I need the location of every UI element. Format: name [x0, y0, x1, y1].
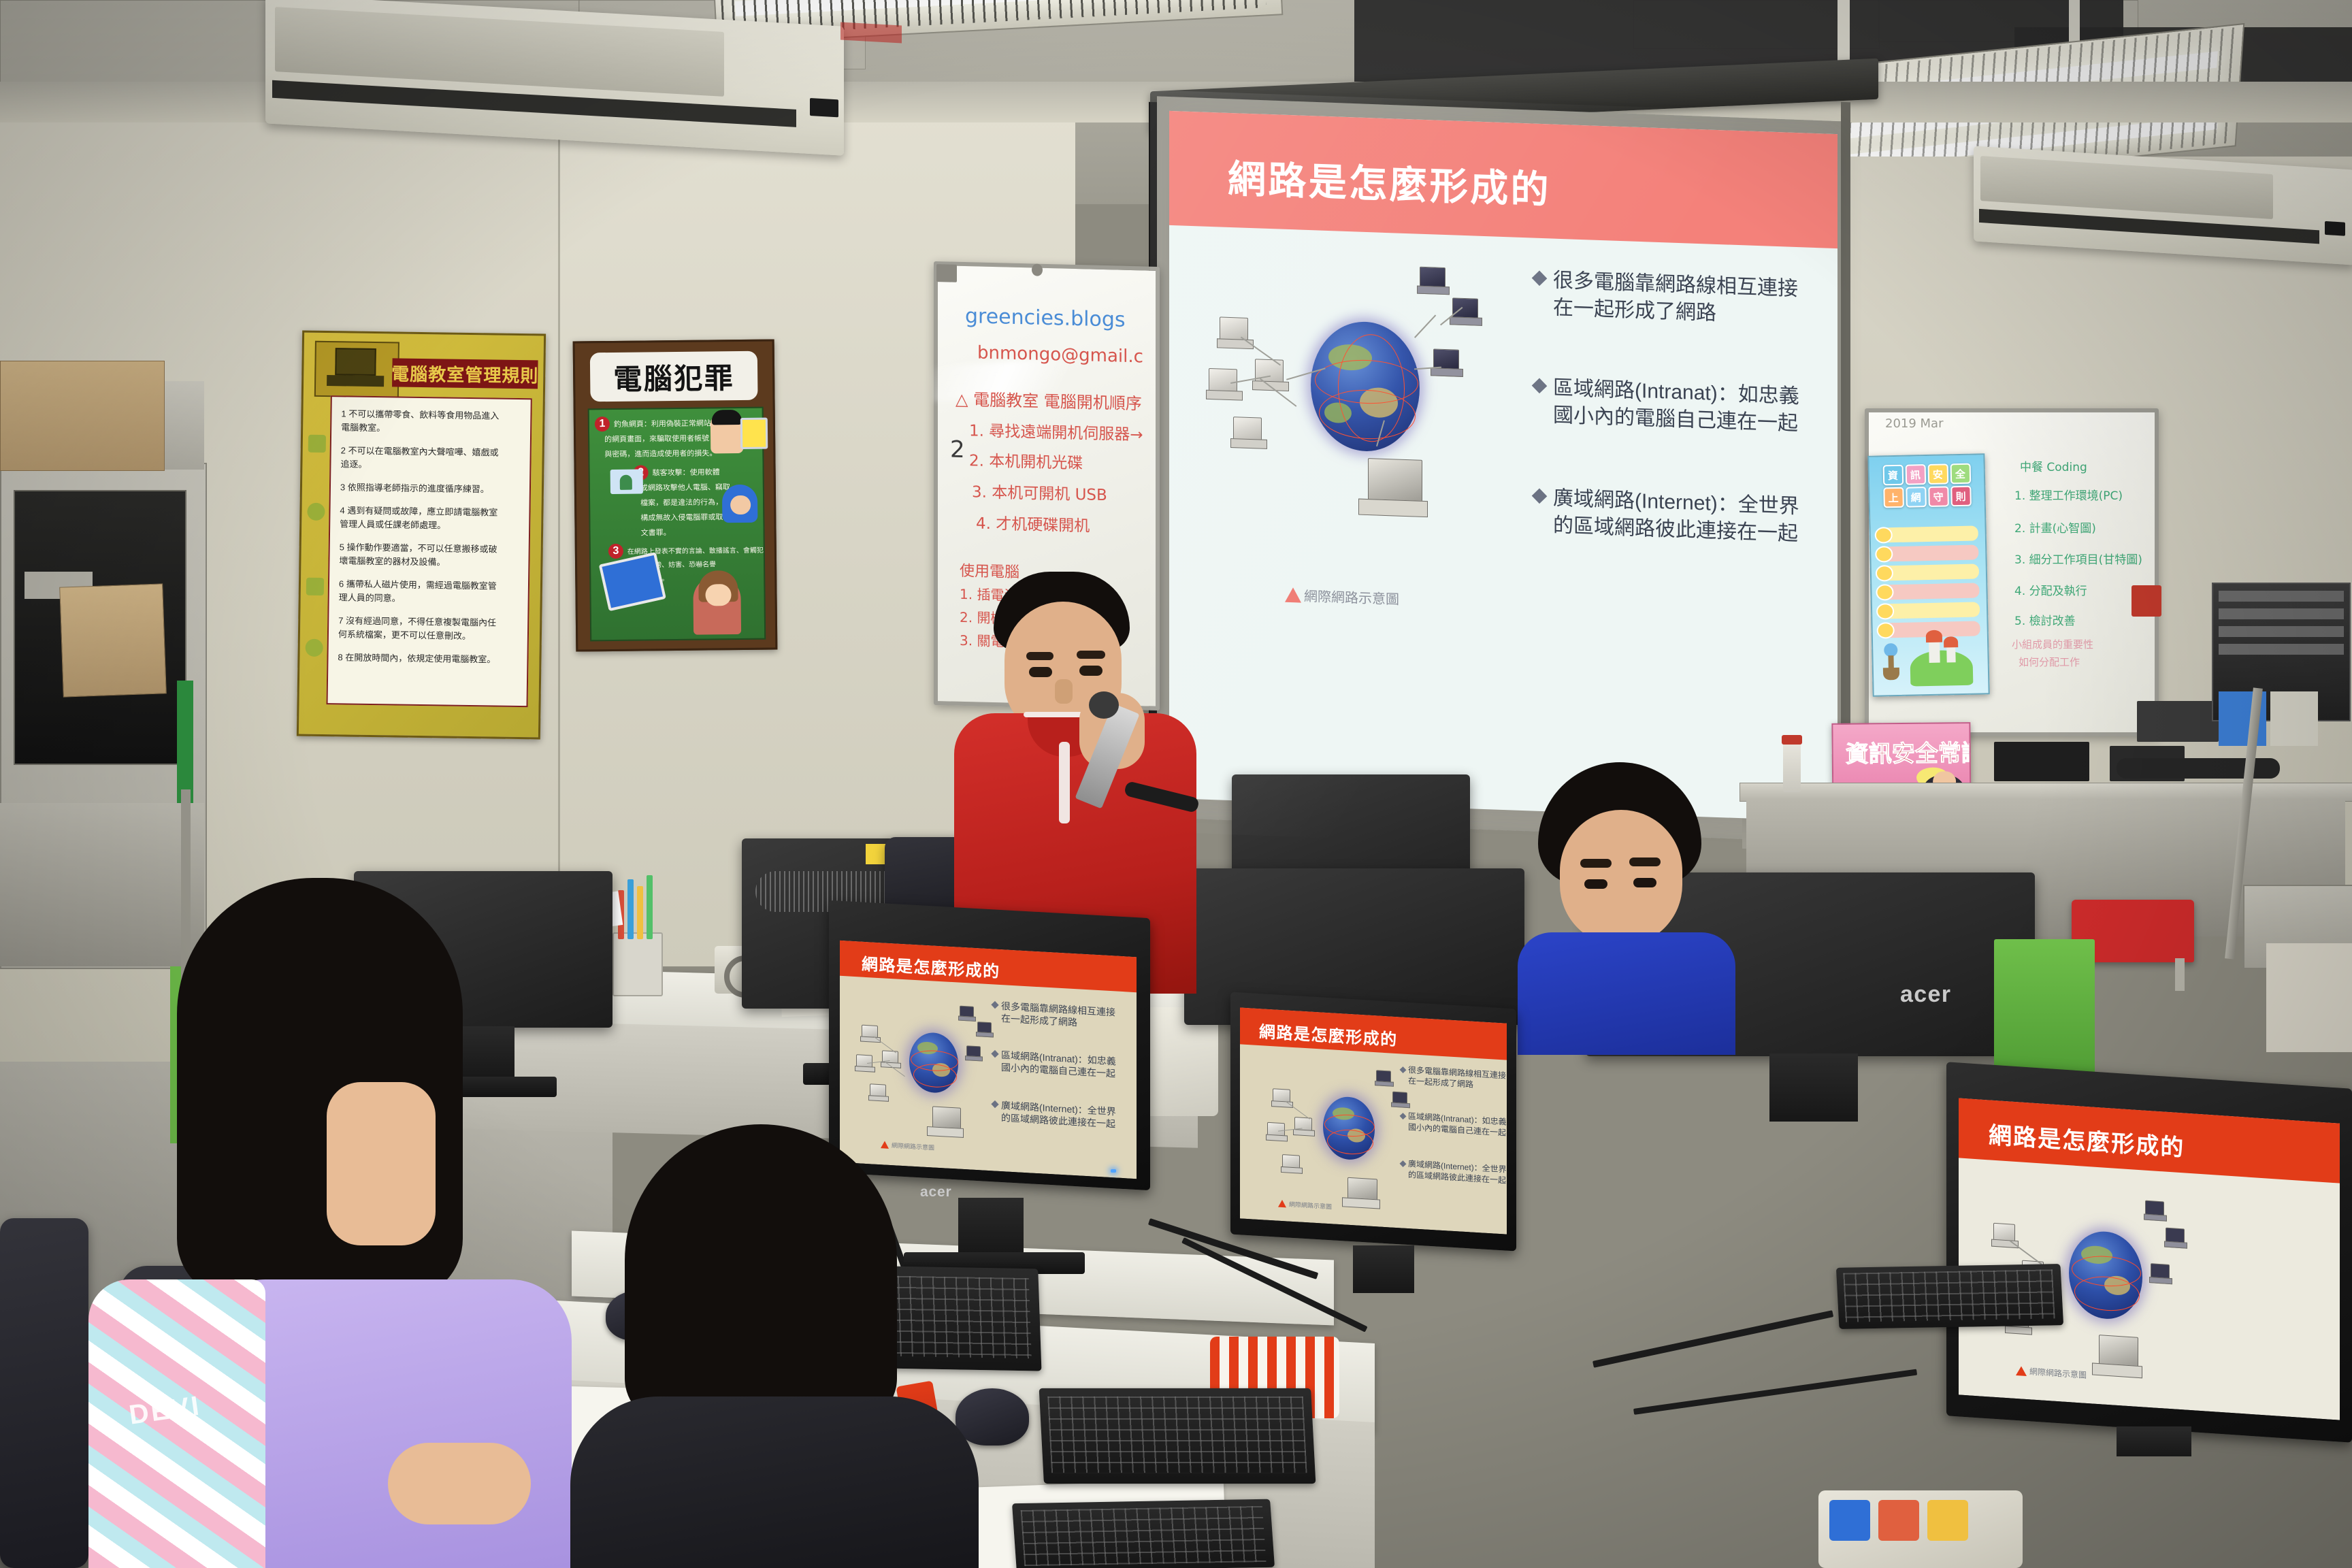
- rule-line: 壞電腦教室的器材及設備。: [339, 553, 445, 568]
- rule-line: 3 依照指導老師指示的進度循序練習。: [340, 480, 489, 495]
- student-dark-jacket: [570, 1396, 979, 1568]
- cardboard-box: [59, 583, 167, 697]
- equipment-box: [1994, 742, 2089, 781]
- whiteboard-line: 2. 本机開机光碟: [969, 447, 1083, 473]
- poster-internet-safety: 資 訊 安 全 上 網 守 則: [1867, 453, 1989, 697]
- crime-line: 檔案，都是違法的行為，會: [640, 496, 730, 508]
- classroom-photo: 網路是怎麼形成的: [0, 0, 2352, 1568]
- equipment-shelf: [1739, 783, 2352, 802]
- keyboard-right: [1836, 1264, 2063, 1329]
- whiteboard-line: 4. 才机硬碟開机: [976, 510, 1090, 536]
- poster-security-title: 資訊安全常識: [1846, 734, 1972, 769]
- monitor-slide-bullet: 區域網路(Intranat)：如忠義 國小內的電腦自己連在一起: [1001, 1049, 1116, 1080]
- whiteboard-line: 3. 本机可開机 USB: [972, 478, 1107, 505]
- whiteboard-line: 1. 整理工作環境(PC): [2014, 486, 2123, 503]
- safety-title-char: 全: [1950, 463, 1971, 485]
- student-dark-hair: [625, 1124, 897, 1424]
- microphone-head: [1089, 691, 1119, 719]
- chair-far-left: [0, 1218, 88, 1568]
- crime-line: 構成無故入侵電腦罪或取得: [640, 511, 730, 523]
- whiteboard-line: 5. 檢討改善: [2014, 611, 2076, 628]
- crime-line: 釣魚網頁：利用偽裝正常網站: [614, 417, 711, 429]
- crime-line: 文書罪。: [640, 527, 670, 538]
- monitor-slide-bullet: 區域網路(Intranat)：如忠義 國小內的電腦自己連在一起: [1408, 1111, 1507, 1139]
- paper-stack: [2266, 943, 2352, 1052]
- pencil-case-right: [1818, 1490, 2023, 1568]
- rule-line: 管理人員或任課老師處理。: [340, 517, 446, 531]
- bottle: [1783, 742, 1801, 792]
- monitor-slide-far-right: 網路是怎麼形成的: [1959, 1098, 2340, 1420]
- diamond-bullet-icon: [1400, 1113, 1407, 1120]
- safety-title-char: 訊: [1905, 464, 1926, 485]
- rule-line: 理人員的同意。: [339, 590, 401, 604]
- safety-title-char: 守: [1928, 486, 1949, 507]
- diamond-bullet-icon: [991, 1050, 998, 1058]
- poster-rules-title: 電腦教室管理規則: [392, 358, 538, 389]
- crime-line: 駭客攻擊：使用軟體: [653, 466, 720, 478]
- whiteboard-margin-number: 2: [950, 436, 965, 464]
- slide-bullet-2: 區域網路(Intranat)：如忠義 國小內的電腦自己連在一起: [1534, 374, 1813, 438]
- slide-bullet-3-text: 廣域網路(Internet)：全世界 的區域網路彼此連接在一起: [1553, 485, 1799, 548]
- whiteboard-line: 1. 尋找遠端開机伺服器→: [969, 417, 1143, 444]
- person-student-front-right: [563, 1124, 999, 1568]
- whiteboard-line: 4. 分配及執行: [2014, 581, 2087, 598]
- safety-title-char: 則: [1950, 486, 1972, 507]
- slide-bullet-2-text: 區域網路(Intranat)：如忠義 國小內的電腦自己連在一起: [1553, 375, 1799, 438]
- monitor-center-rear: 網路是怎麼形成的: [1230, 1000, 1516, 1259]
- triangle-icon: [1285, 587, 1301, 602]
- rule-line: 8 在開放時間內，依規定使用電腦教室。: [338, 650, 495, 665]
- slide-bullet-1-text: 很多電腦靠網路線相互連接 在一起形成了網路: [1553, 267, 1798, 330]
- cable-coil: [2117, 758, 2280, 779]
- safety-title-char: 安: [1927, 463, 1948, 485]
- whiteboard-line: 中餐 Coding: [2020, 457, 2087, 474]
- slide-title: 網路是怎麼形成的: [1228, 148, 1551, 215]
- diamond-bullet-icon: [991, 1001, 998, 1009]
- globe-icon: [1311, 320, 1420, 453]
- diamond-bullet-icon: [991, 1100, 998, 1108]
- safety-title-char: 資: [1882, 465, 1904, 486]
- computer-icon: [314, 341, 399, 398]
- rule-line: 6 攜帶私人磁片使用，需經過電腦教室管: [339, 576, 497, 591]
- rule-line: 4 遇到有疑問或故障，應立即請電腦教室: [340, 503, 497, 518]
- student-girl-hand: [388, 1443, 531, 1524]
- safety-title-char: 網: [1906, 487, 1927, 508]
- poster-safety-title: 資 訊 安 全 上 網 守 則: [1878, 463, 1976, 508]
- monitor-slide-right: 網路是怎麼形成的: [1240, 1007, 1507, 1234]
- diamond-bullet-icon: [1532, 489, 1548, 504]
- diamond-bullet-icon: [1400, 1066, 1407, 1073]
- triangle-icon: [1278, 1200, 1286, 1208]
- diamond-bullet-icon: [1532, 271, 1548, 287]
- crime-line: 的網頁畫面，來騙取使用者帳號: [604, 432, 709, 444]
- slide-bullet-1: 很多電腦靠網路線相互連接 在一起形成了網路: [1534, 267, 1813, 331]
- pen-cup: [612, 932, 663, 996]
- crime-number: 3: [608, 544, 623, 559]
- rule-line: 5 操作動作要適當，不可以任意搬移或破: [340, 540, 497, 555]
- monitor-slide-bullet: 廣域網路(Internet)：全世界 的區域網路彼此連接在一起: [1408, 1159, 1507, 1186]
- whiteboard-line: 小組成員的重要性: [2012, 637, 2093, 651]
- diamond-bullet-icon: [1532, 378, 1548, 394]
- poster-crime-title: 電腦犯罪: [590, 351, 758, 402]
- student-boy-jacket: [1518, 932, 1735, 1055]
- whiteboard-line: 2. 計畫(心智圖): [2014, 519, 2096, 536]
- rule-line: 7 沒有經過同意，不得任意複製電腦內任: [338, 613, 496, 628]
- whiteboard-line: 如何分配工作: [2019, 655, 2080, 669]
- person-student-front-left: DEVI: [102, 878, 578, 1568]
- safety-title-char: 上: [1883, 487, 1904, 508]
- projected-slide: 網路是怎麼形成的: [1169, 111, 1837, 821]
- student-boy-face: [1560, 810, 1682, 946]
- whiteboard-line: bnmongo@gmail.c: [977, 343, 1143, 367]
- monitor-slide-bullet: 很多電腦靠網路線相互連接 在一起形成了網路: [1001, 1000, 1115, 1031]
- whiteboard-line: 3. 細分工作項目(甘特圖): [2014, 550, 2142, 567]
- rule-line: 1 不可以攜帶零食、飲料等食用物品進入: [341, 406, 499, 421]
- cardboard-box: [0, 361, 165, 471]
- monitor-slide-bullet: 廣域網路(Internet)：全世界 的區域網路彼此連接在一起: [1001, 1099, 1116, 1130]
- slide-footer-logo: 網際網路示意圖: [1285, 585, 1399, 608]
- keyboard-front: [1012, 1499, 1275, 1568]
- whiteboard-line: greencies.blogs: [965, 304, 1126, 332]
- slide-bullet-3: 廣域網路(Internet)：全世界 的區域網路彼此連接在一起: [1534, 485, 1813, 549]
- network-diagram: [1210, 242, 1496, 538]
- poster-computer-crime: 電腦犯罪 1 釣魚網頁：利用偽裝正常網站 的網頁畫面，來騙取使用者帳號 與密碼，…: [573, 339, 778, 651]
- rule-line: 2 不可以在電腦教室內大聲喧嘩、嬉戲或: [341, 443, 499, 458]
- monitor-brand-label: acer: [1900, 981, 1951, 1008]
- crime-number: 1: [595, 416, 610, 431]
- slide-logo-text: 網際網路示意圖: [1304, 585, 1399, 608]
- keyboard-center: [1039, 1388, 1316, 1484]
- rule-line: 追逐。: [340, 457, 367, 470]
- diamond-bullet-icon: [1400, 1160, 1407, 1167]
- crime-line: 與密碼，進而造成使用者的損失。: [604, 447, 717, 459]
- person-student-boy: [1518, 762, 1735, 1048]
- crime-line: 或網路攻擊他人電腦、竊取: [640, 481, 730, 493]
- monitor-slide-bullet: 很多電腦靠網路線相互連接 在一起形成了網路: [1408, 1065, 1506, 1092]
- student-girl-face: [327, 1082, 436, 1245]
- whiteboard-line: △ 電腦教室 電腦開机順序: [955, 386, 1142, 414]
- rule-line: 何系統檔案，更不可以任意刪改。: [338, 627, 471, 642]
- rule-line: 電腦教室。: [341, 420, 385, 434]
- poster-classroom-rules: 電腦教室管理規則 1 不可以攜帶零食、飲料等食用物品進入 電腦教室。 2 不可以…: [297, 331, 546, 740]
- triangle-icon: [2016, 1365, 2027, 1375]
